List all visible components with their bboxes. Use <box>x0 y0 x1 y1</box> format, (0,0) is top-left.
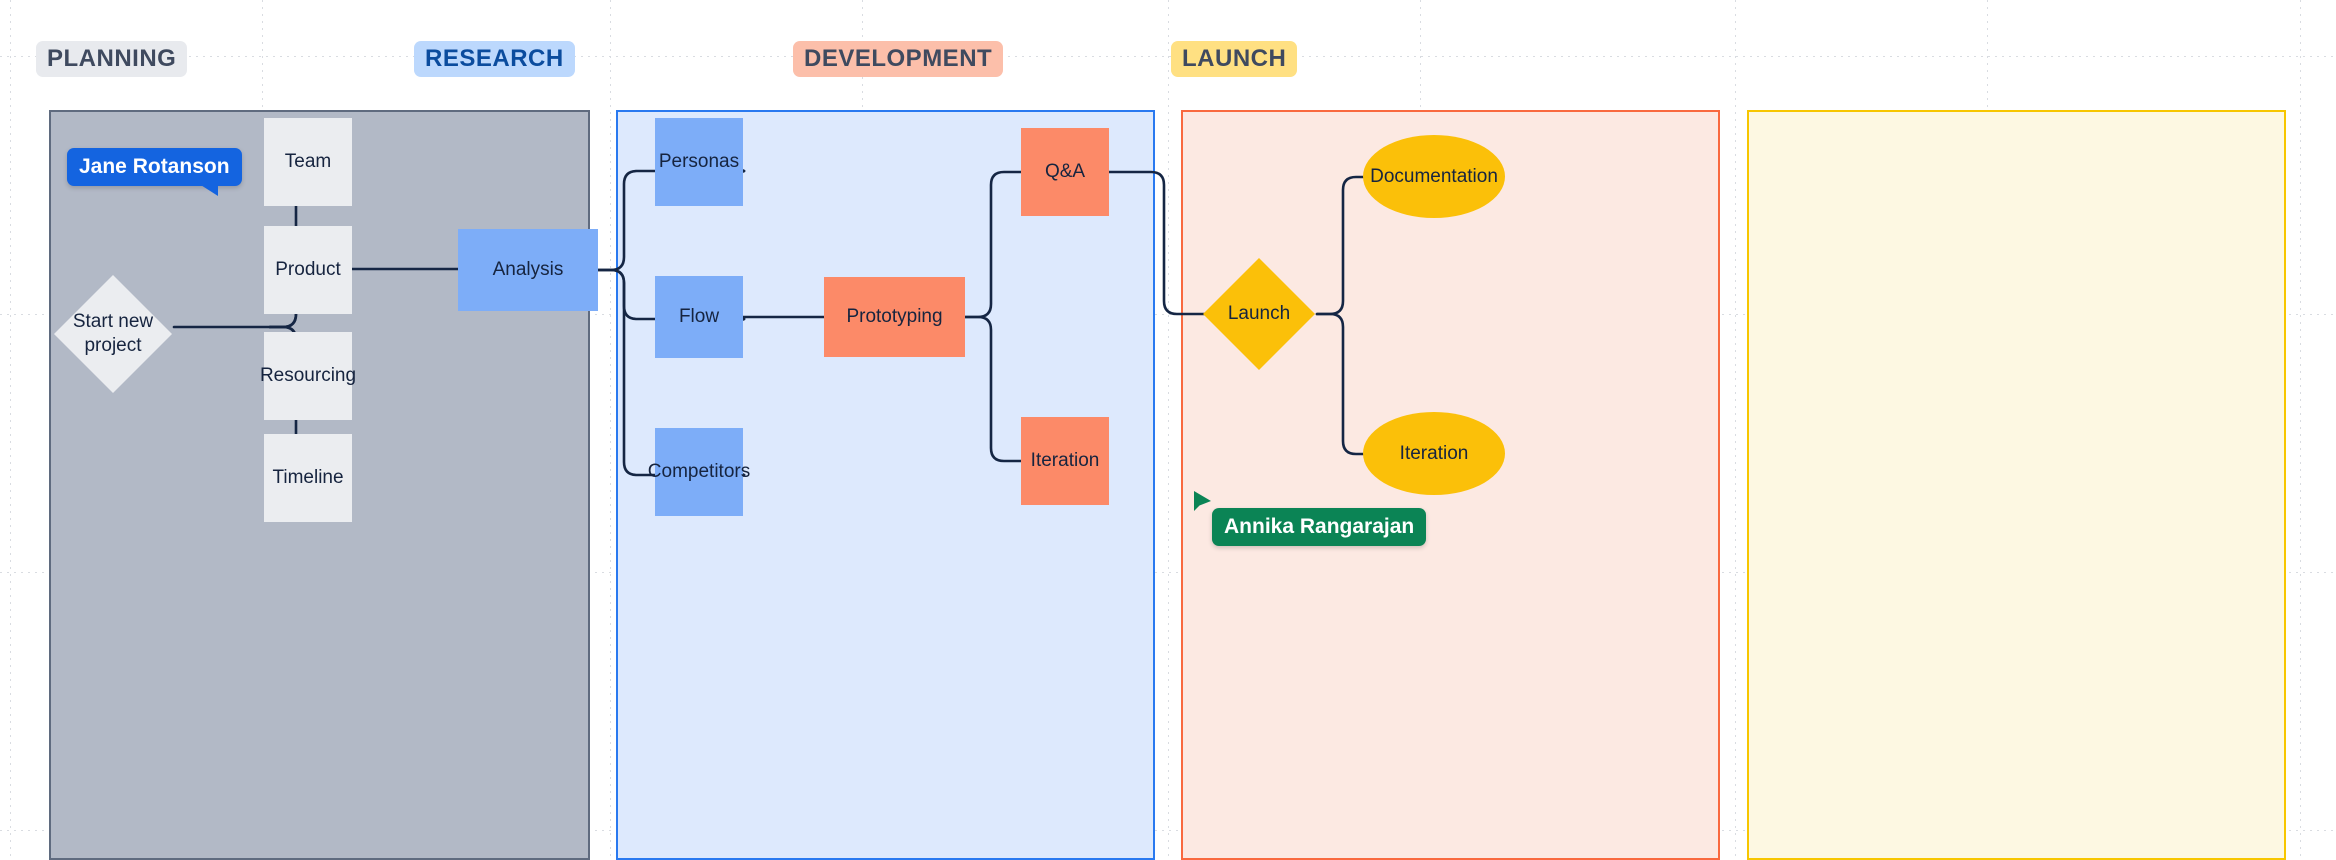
node-personas[interactable]: Personas <box>655 118 743 206</box>
node-label: Iteration <box>1400 442 1469 466</box>
cursor-label-annika[interactable]: Annika Rangarajan <box>1212 508 1426 546</box>
node-label: Prototyping <box>846 305 942 329</box>
node-label: Timeline <box>272 466 343 490</box>
cursor-pointer-jane-icon <box>196 172 222 198</box>
node-product[interactable]: Product <box>264 226 352 314</box>
lane-launch[interactable] <box>1747 110 2286 860</box>
node-label: Documentation <box>1370 165 1498 189</box>
node-iteration-launch[interactable]: Iteration <box>1363 412 1505 495</box>
node-label: Team <box>285 150 331 174</box>
grid-line-vertical <box>610 0 611 860</box>
node-team[interactable]: Team <box>264 118 352 206</box>
node-label: Resourcing <box>260 364 356 388</box>
node-label: Product <box>275 258 340 282</box>
lane-label-planning[interactable]: PLANNING <box>36 41 187 77</box>
node-resourcing[interactable]: Resourcing <box>264 332 352 420</box>
cursor-pointer-annika-icon <box>1192 490 1216 514</box>
node-label: Launch <box>1228 302 1290 326</box>
whiteboard-canvas[interactable]: PLANNING RESEARCH DEVELOPMENT LAUNCH <box>0 0 2336 860</box>
grid-line-vertical <box>1735 0 1736 860</box>
node-analysis[interactable]: Analysis <box>458 229 598 311</box>
node-launch[interactable]: Launch <box>1203 258 1315 370</box>
node-label: Start new project <box>54 310 172 358</box>
node-label: Q&A <box>1045 160 1085 184</box>
grid-line-vertical <box>10 0 11 860</box>
lane-label-development[interactable]: DEVELOPMENT <box>793 41 1003 77</box>
node-label: Personas <box>659 150 739 174</box>
grid-line-vertical <box>1168 0 1169 860</box>
node-timeline[interactable]: Timeline <box>264 434 352 522</box>
node-qa[interactable]: Q&A <box>1021 128 1109 216</box>
node-competitors[interactable]: Competitors <box>655 428 743 516</box>
node-documentation[interactable]: Documentation <box>1363 135 1505 218</box>
node-prototyping[interactable]: Prototyping <box>824 277 965 357</box>
node-start-new-project[interactable]: Start new project <box>54 275 172 393</box>
lane-label-launch[interactable]: LAUNCH <box>1171 41 1297 77</box>
node-label: Competitors <box>648 460 750 484</box>
node-label: Iteration <box>1031 449 1100 473</box>
node-flow[interactable]: Flow <box>655 276 743 358</box>
node-label: Flow <box>679 305 719 329</box>
lane-label-research[interactable]: RESEARCH <box>414 41 575 77</box>
node-iteration-dev[interactable]: Iteration <box>1021 417 1109 505</box>
node-label: Analysis <box>493 258 564 282</box>
grid-line-vertical <box>2300 0 2301 860</box>
